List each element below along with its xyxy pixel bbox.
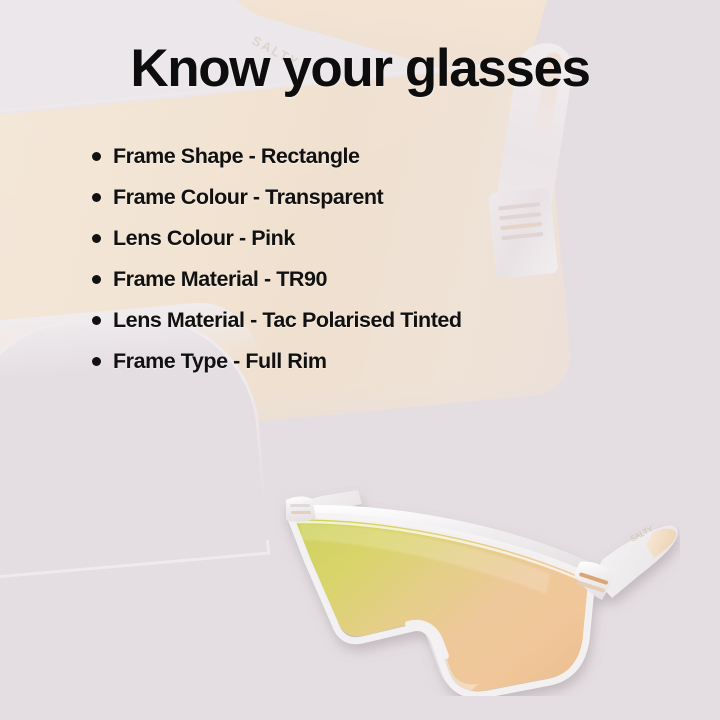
bullet-icon	[92, 193, 101, 202]
list-item: Frame Shape - Rectangle	[92, 136, 652, 177]
bullet-icon	[92, 152, 101, 161]
spec-lens-colour: Lens Colour - Pink	[113, 226, 295, 251]
list-item: Lens Material - Tac Polarised Tinted	[92, 300, 652, 341]
spec-frame-type: Frame Type - Full Rim	[113, 349, 327, 374]
bullet-icon	[92, 316, 101, 325]
left-hinge	[286, 496, 316, 521]
list-item: Lens Colour - Pink	[92, 218, 652, 259]
list-item: Frame Type - Full Rim	[92, 341, 652, 382]
product-image-sunglasses: SALTY	[250, 466, 680, 696]
sunglasses-body: SALTY	[286, 490, 677, 695]
spec-list: Frame Shape - Rectangle Frame Colour - T…	[92, 136, 652, 382]
bullet-icon	[92, 275, 101, 284]
infographic-canvas: SALTY Know your glasses Frame Shape - Re…	[0, 0, 720, 720]
spec-frame-shape: Frame Shape - Rectangle	[113, 144, 360, 169]
page-title: Know your glasses	[0, 41, 720, 97]
bullet-icon	[92, 357, 101, 366]
spec-frame-material: Frame Material - TR90	[113, 267, 327, 292]
list-item: Frame Colour - Transparent	[92, 177, 652, 218]
spec-lens-material: Lens Material - Tac Polarised Tinted	[113, 308, 462, 333]
spec-frame-colour: Frame Colour - Transparent	[113, 185, 383, 210]
bullet-icon	[92, 234, 101, 243]
list-item: Frame Material - TR90	[92, 259, 652, 300]
